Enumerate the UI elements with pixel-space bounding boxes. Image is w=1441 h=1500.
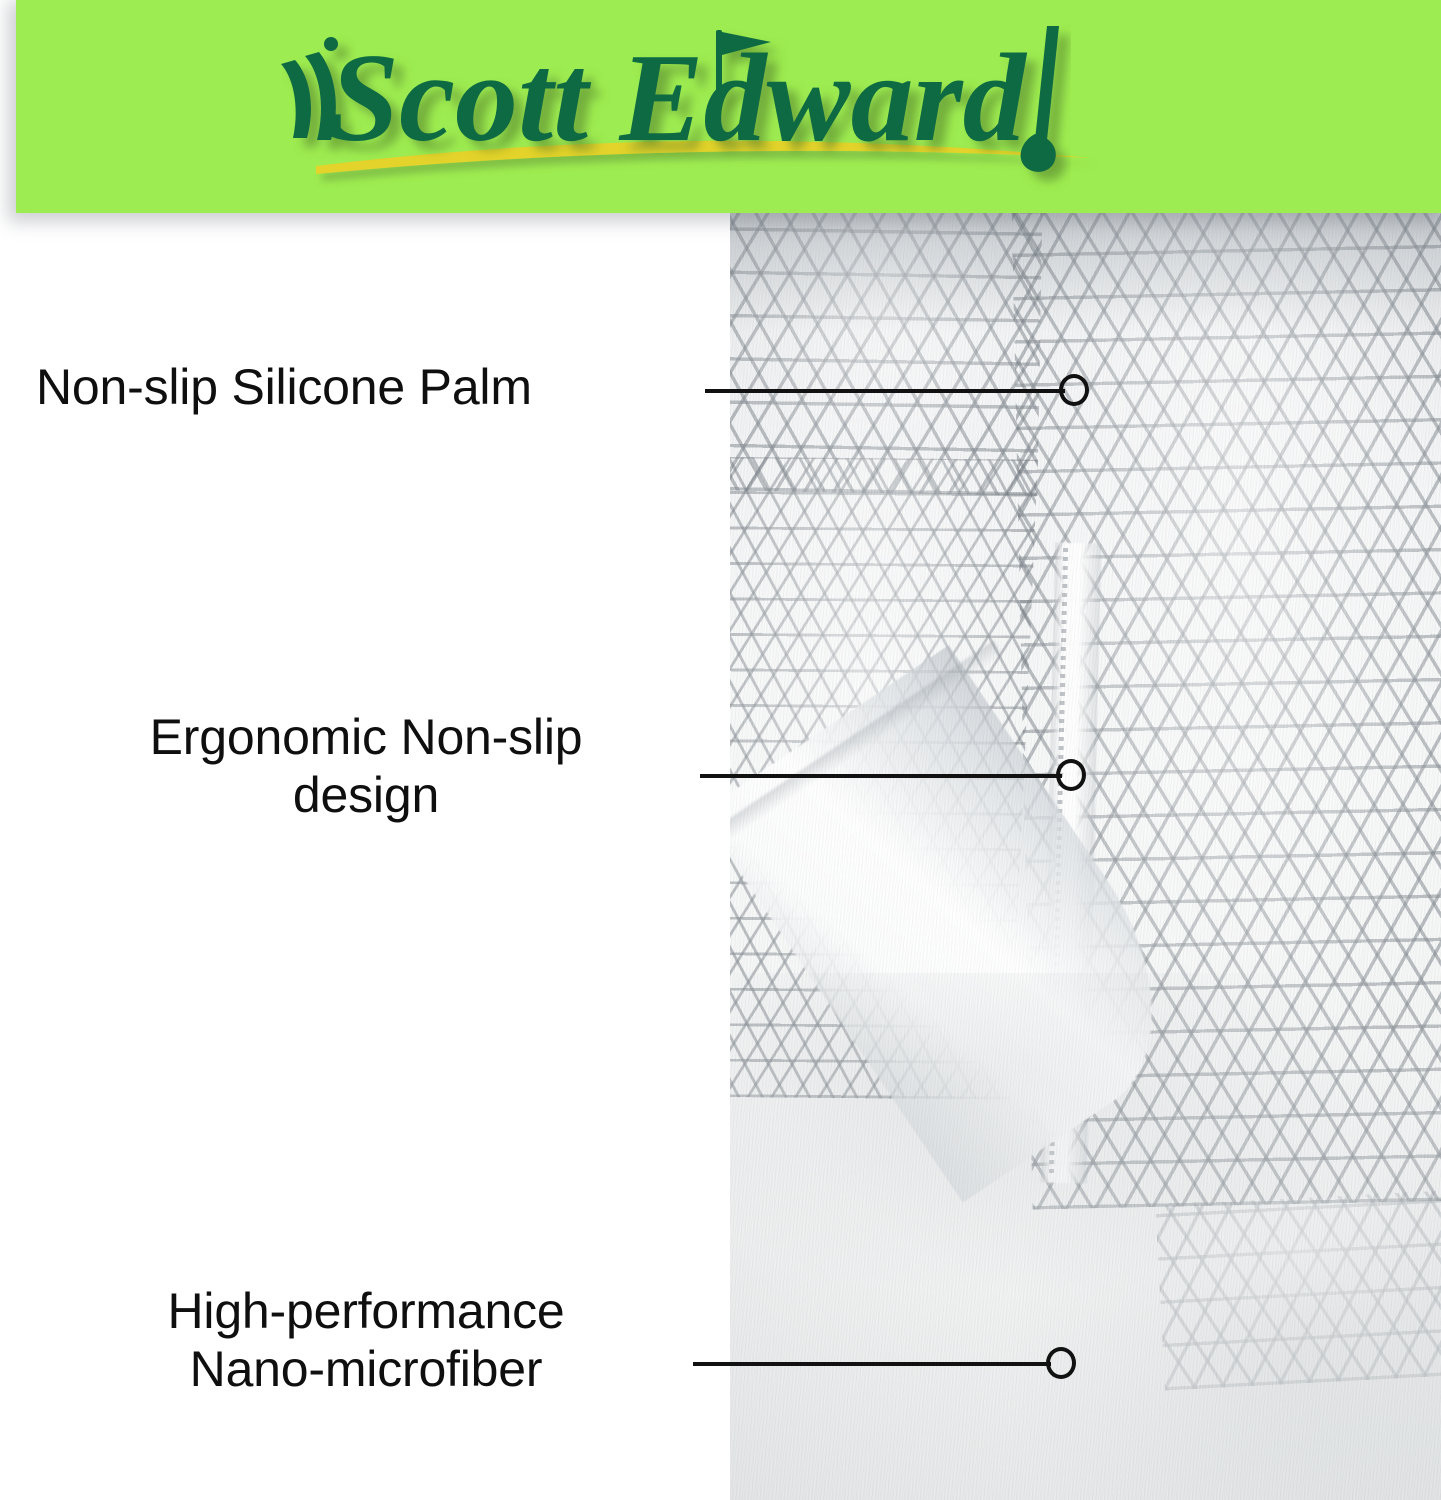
callout-leader-line-1 (705, 389, 1065, 393)
golf-club-icon (1021, 26, 1059, 172)
brand-banner: Scott Edward (16, 0, 1441, 213)
callout-label-non-slip-silicone-palm: Non-slip Silicone Palm (36, 358, 696, 416)
callout-leader-line-3 (693, 1362, 1051, 1366)
callout-marker-circle-1 (1059, 374, 1089, 406)
callout-marker-circle-2 (1056, 759, 1086, 791)
callout-marker-circle-3 (1046, 1347, 1076, 1379)
scott-edward-logo-svg: Scott Edward (261, 8, 1161, 213)
callout-label-ergonomic-non-slip-design: Ergonomic Non-slip design (36, 708, 696, 824)
photo-top-shadow (730, 213, 1441, 333)
glove-photo (730, 213, 1441, 1500)
callout-leader-line-2 (700, 774, 1062, 778)
logo-wordmark: Scott Edward (329, 29, 1028, 168)
product-feature-infographic: Scott Edward Non-slip Silicone Palm Ergo… (0, 0, 1441, 1500)
callout-label-high-performance-nano-microfiber: High-performance Nano-microfiber (36, 1282, 696, 1398)
lower-microfiber-shading (730, 973, 1441, 1500)
brand-logo: Scott Edward (261, 8, 1161, 213)
